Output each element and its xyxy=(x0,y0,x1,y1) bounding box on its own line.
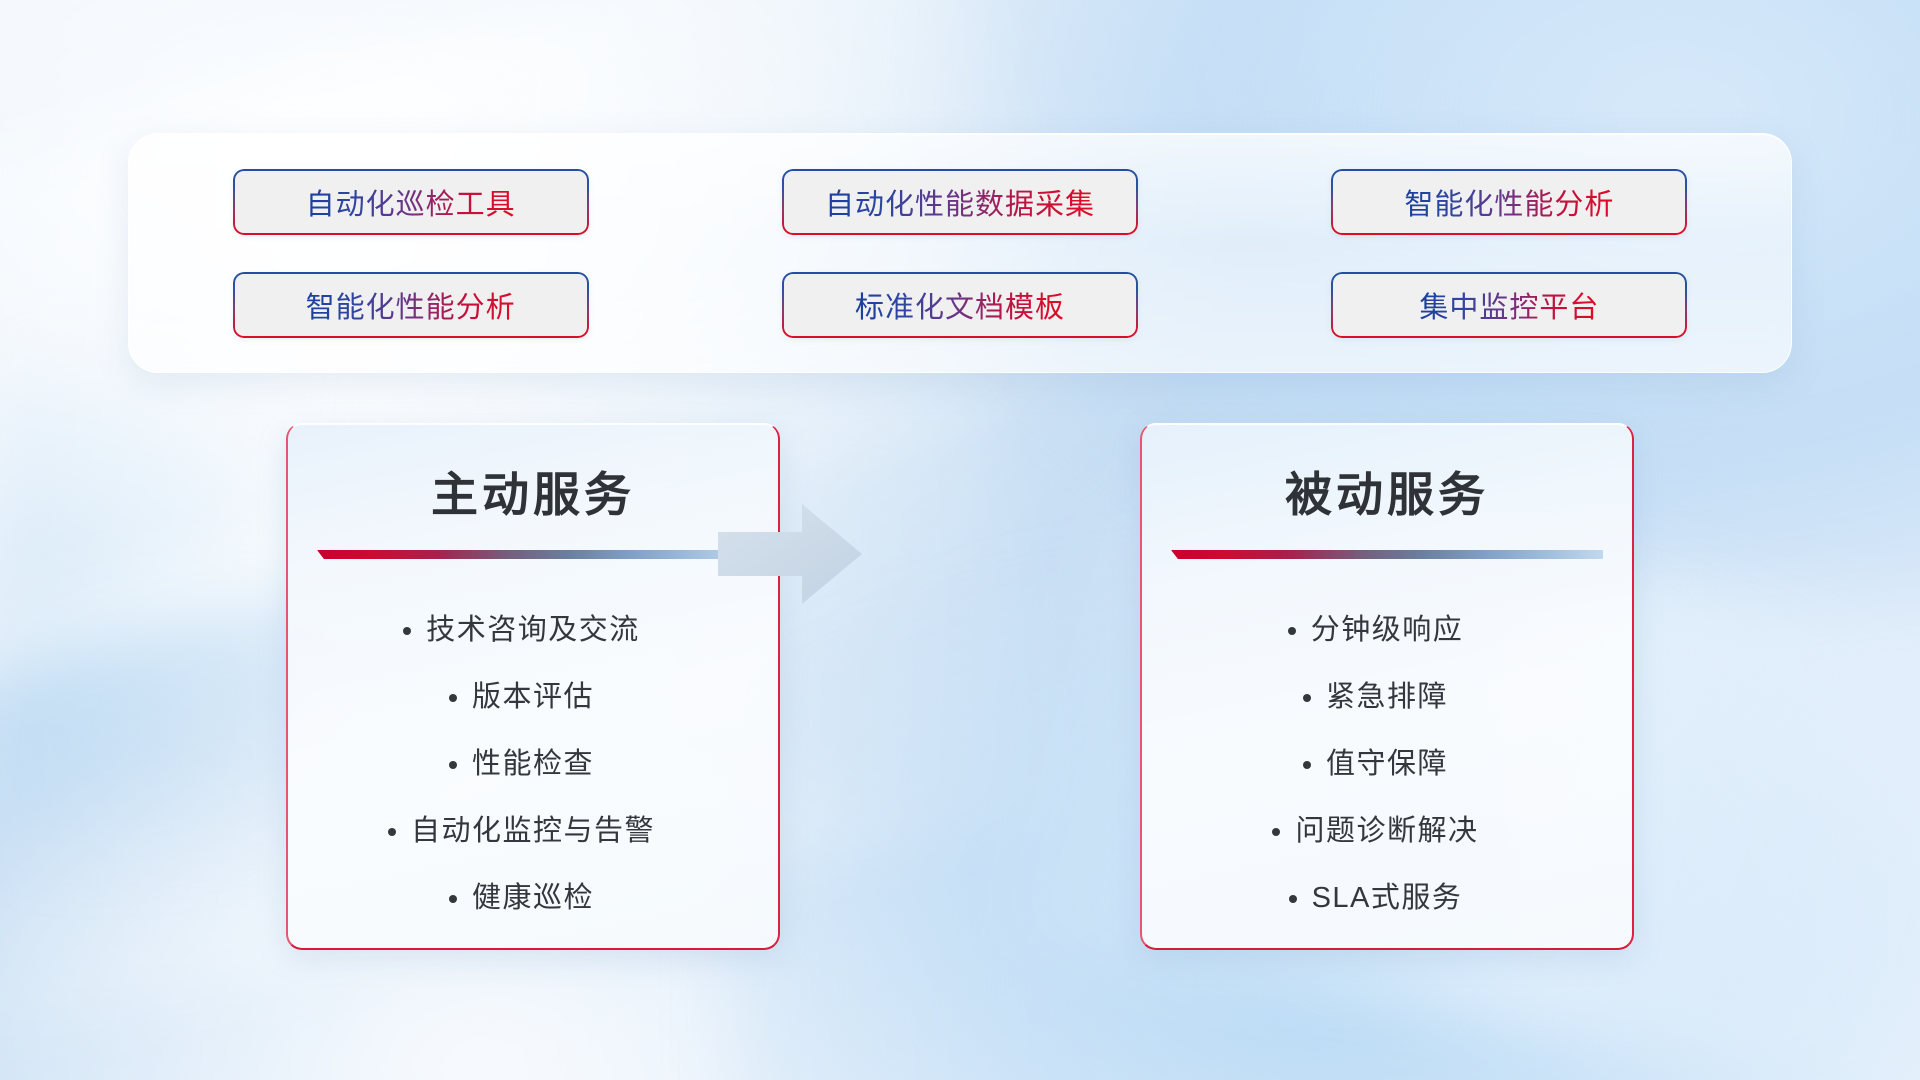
title-divider xyxy=(317,550,749,562)
list-item: 版本评估 xyxy=(472,673,594,715)
capability-pill-3[interactable]: 智能化性能分析 xyxy=(1331,169,1687,235)
list-item: 值守保障 xyxy=(1326,740,1448,782)
arrow-right-icon xyxy=(716,502,864,606)
capability-pill-label: 自动化性能数据采集 xyxy=(825,181,1095,223)
service-card-proactive[interactable]: 主动服务 技术咨询及交流 版本评估 性能检查 自动化监控与告警 健康巡检 xyxy=(286,423,780,950)
service-item-list: 分钟级响应 紧急排障 值守保障 问题诊断解决 SLA式服务 xyxy=(1142,606,1632,916)
service-card-title: 被动服务 xyxy=(1142,456,1632,525)
list-item: 性能检查 xyxy=(472,740,594,782)
list-item: SLA式服务 xyxy=(1312,874,1463,916)
list-item: 技术咨询及交流 xyxy=(426,606,640,648)
list-item: 健康巡检 xyxy=(472,874,594,916)
capability-pill-label: 智能化性能分析 xyxy=(1404,181,1614,223)
capability-pill-2[interactable]: 自动化性能数据采集 xyxy=(782,169,1138,235)
capability-pill-4[interactable]: 智能化性能分析 xyxy=(233,272,589,338)
capability-panel: 自动化巡检工具 自动化性能数据采集 智能化性能分析 智能化性能分析 标准化文档模… xyxy=(128,133,1792,373)
service-item-list: 技术咨询及交流 版本评估 性能检查 自动化监控与告警 健康巡检 xyxy=(288,606,778,916)
capability-pill-label: 集中监控平台 xyxy=(1419,284,1599,326)
service-card-title: 主动服务 xyxy=(288,456,778,525)
capability-pill-1[interactable]: 自动化巡检工具 xyxy=(233,169,589,235)
list-item: 自动化监控与告警 xyxy=(411,807,655,849)
title-divider-bar xyxy=(1171,550,1603,559)
capability-pill-label: 智能化性能分析 xyxy=(306,284,516,326)
capability-pill-5[interactable]: 标准化文档模板 xyxy=(782,272,1138,338)
list-item: 紧急排障 xyxy=(1326,673,1448,715)
service-card-reactive[interactable]: 被动服务 分钟级响应 紧急排障 值守保障 问题诊断解决 SLA式服务 xyxy=(1140,423,1634,950)
list-item: 问题诊断解决 xyxy=(1295,807,1478,849)
title-divider xyxy=(1171,550,1603,562)
capability-pill-grid: 自动化巡检工具 自动化性能数据采集 智能化性能分析 智能化性能分析 标准化文档模… xyxy=(129,134,1791,372)
capability-pill-label: 自动化巡检工具 xyxy=(306,181,516,223)
title-divider-bar xyxy=(317,550,749,559)
capability-pill-label: 标准化文档模板 xyxy=(855,284,1065,326)
slide-stage: 自动化巡检工具 自动化性能数据采集 智能化性能分析 智能化性能分析 标准化文档模… xyxy=(0,0,1920,1080)
list-item: 分钟级响应 xyxy=(1311,606,1464,648)
capability-pill-6[interactable]: 集中监控平台 xyxy=(1331,272,1687,338)
